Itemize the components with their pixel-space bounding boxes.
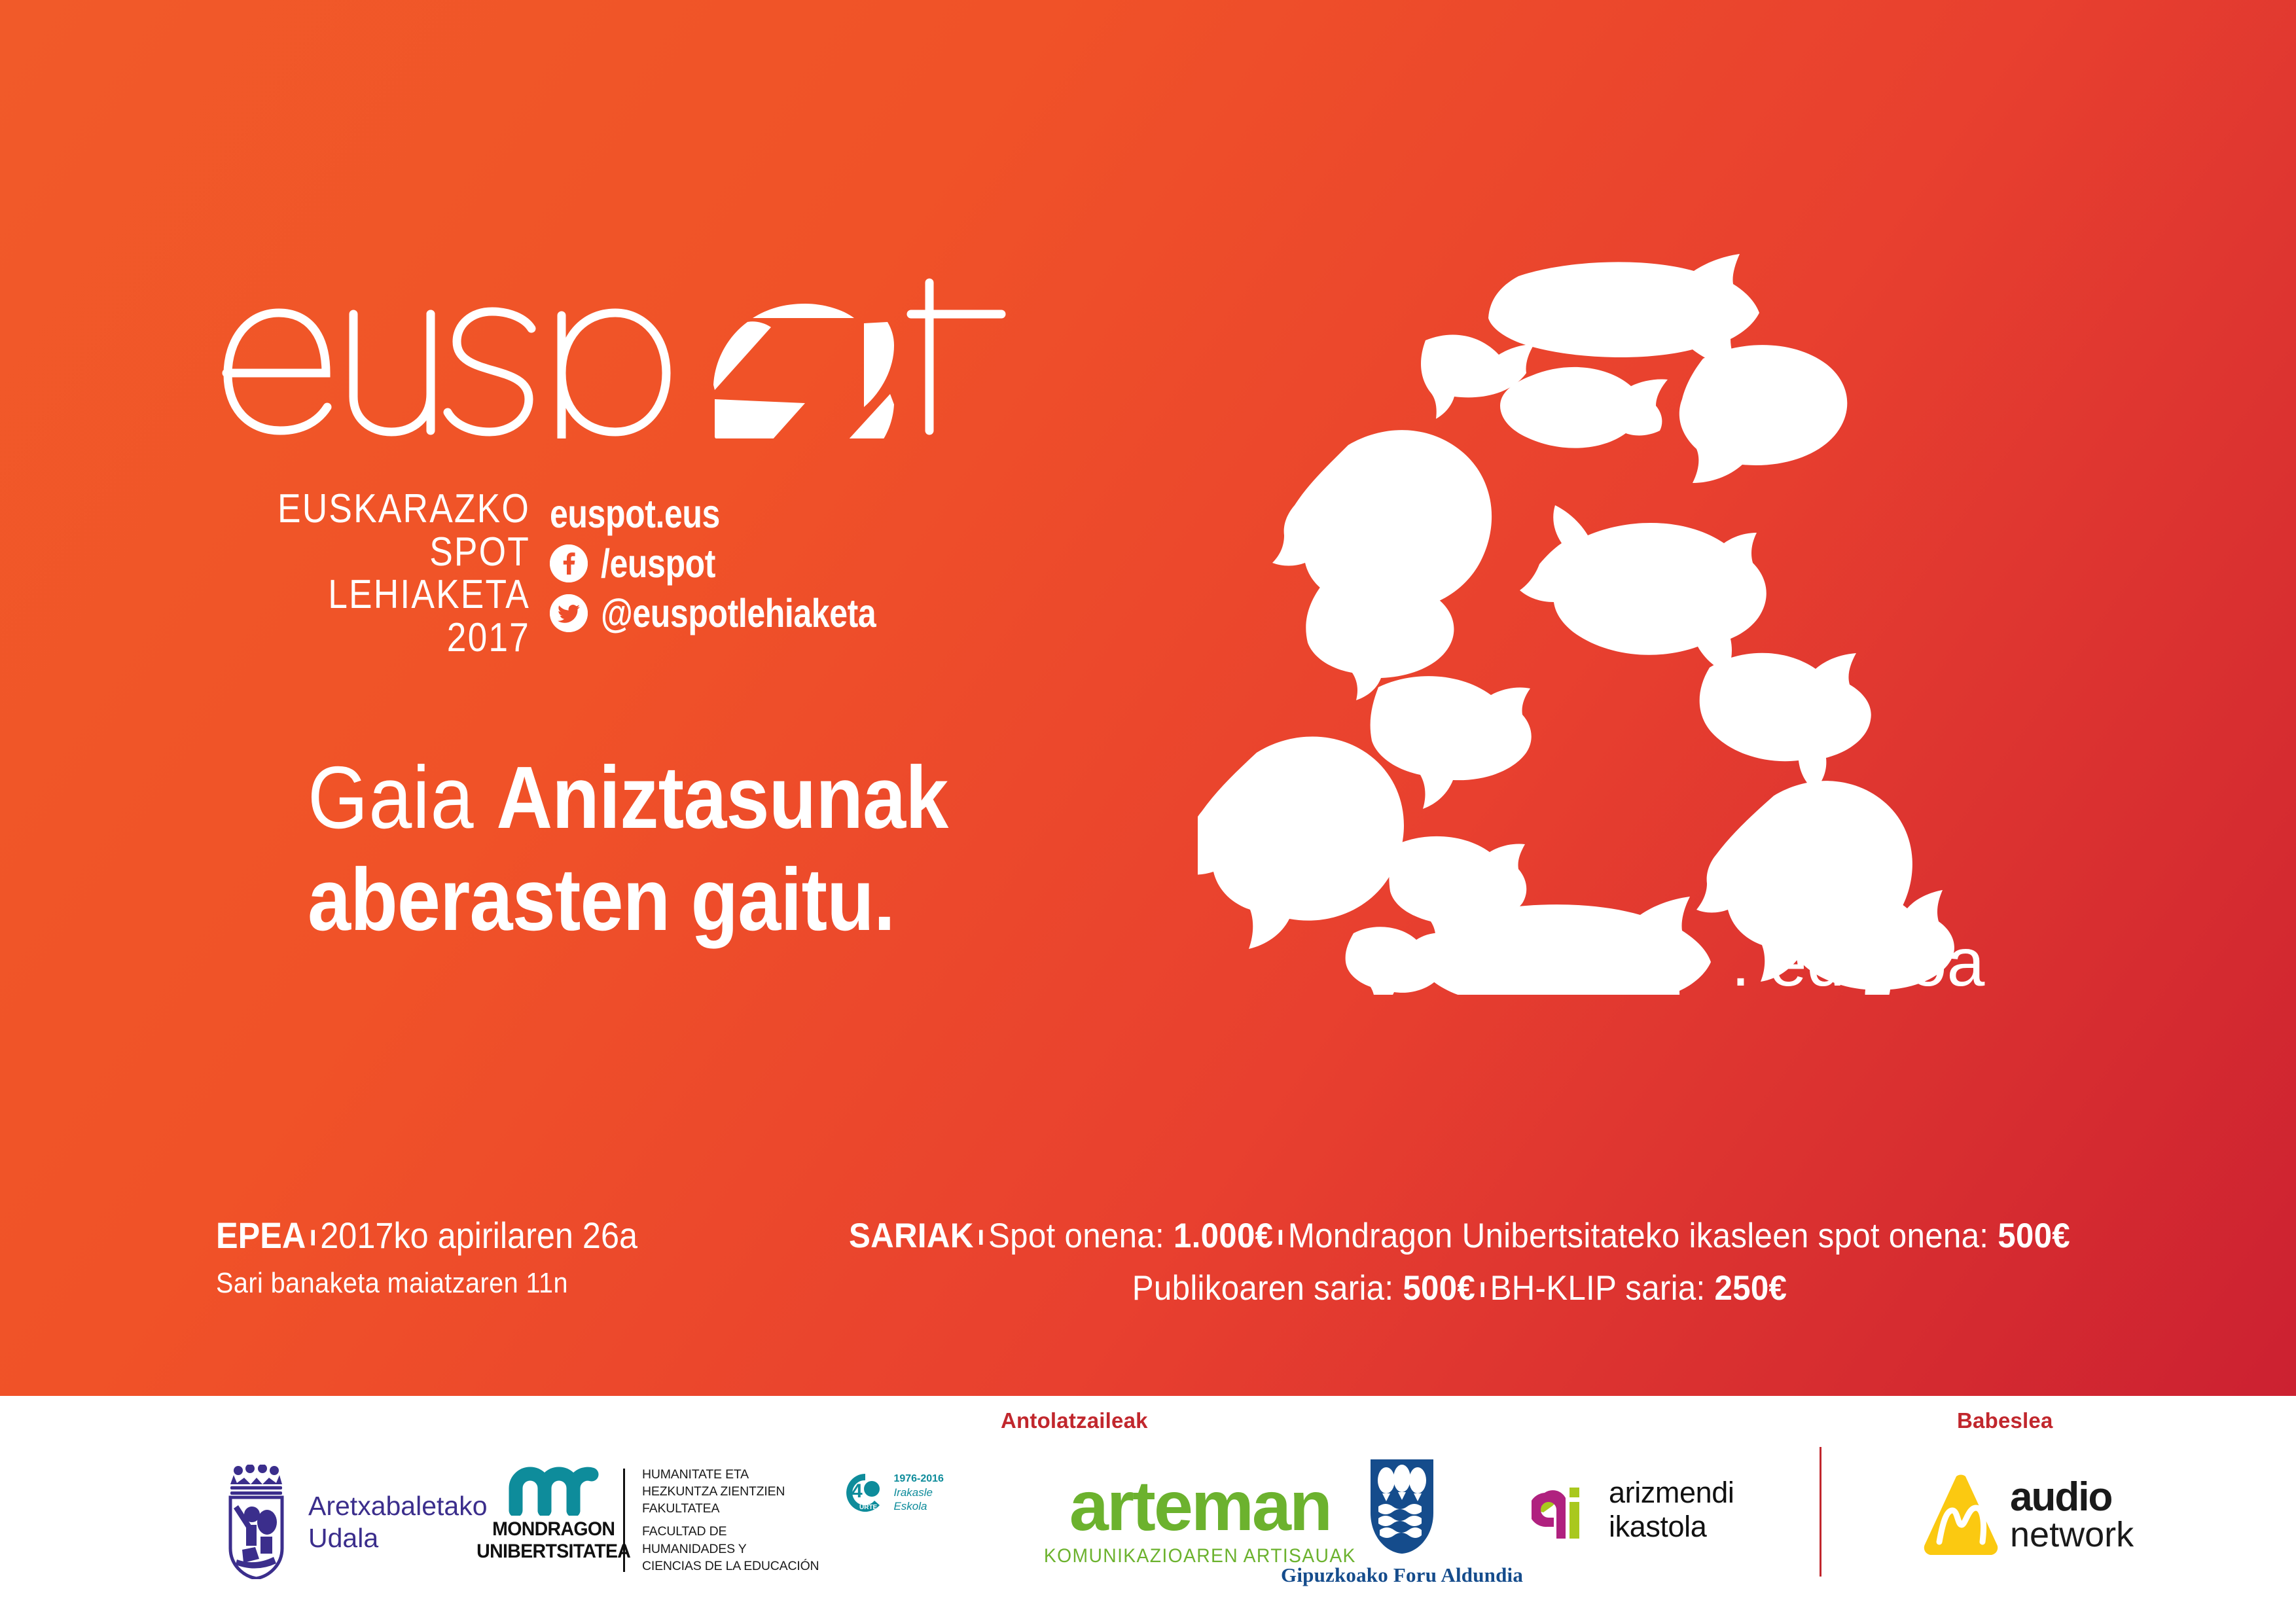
prizes-row-2: Publikoaren saria: 500€ıBH-KLIP saria: 2…	[821, 1266, 2099, 1311]
mondragon-desc-es-2: HUMANIDADES Y	[642, 1541, 819, 1558]
prizes-separator-1: ı	[974, 1220, 988, 1251]
deadline-note: Sari banaketa maiatzaren 11n	[216, 1266, 864, 1301]
prize-4-amount: 250€	[1714, 1269, 1787, 1308]
forty-years-sub-2: Eskola	[893, 1499, 944, 1513]
edition-label: . edizioa	[1731, 924, 1984, 1002]
contact-block: euspot.eus /euspot @euspotlehiaketa	[550, 488, 937, 638]
euspot-wordmark	[216, 275, 1028, 438]
mondragon-desc-eu: HUMANITATE ETA HEZKUNTZA ZIENTZIEN FAKUL…	[642, 1466, 819, 1517]
prize-3-label: Publikoaren saria:	[1132, 1269, 1403, 1308]
deadline-row: EPEAı2017ko apirilaren 26a	[216, 1214, 864, 1257]
aretxabaleta-line-2: Udala	[308, 1522, 488, 1554]
logo-mondragon-unibertsitatea[interactable]: MONDRAGON UNIBERTSITATEA HUMANITATE ETA …	[497, 1466, 944, 1575]
subtitle-line-3: LEHIAKETA	[260, 573, 530, 616]
mondragon-name-line-1: MONDRAGON	[476, 1518, 630, 1541]
organizers-label: Antolatzaileak	[1001, 1408, 1148, 1433]
forty-years-range: 1976-2016	[893, 1472, 944, 1486]
camera-aperture-icon	[695, 300, 894, 438]
mondragon-description: HUMANITATE ETA HEZKUNTZA ZIENTZIEN FAKUL…	[642, 1466, 819, 1575]
arizmendi-text: arizmendi ikastola	[1609, 1476, 1734, 1544]
facebook-label: /euspot	[601, 544, 715, 584]
twitter-icon	[550, 594, 588, 632]
subtitle-block: EUSKARAZKO SPOT LEHIAKETA 2017	[260, 488, 530, 660]
twitter-label: @euspotlehiaketa	[601, 594, 876, 633]
mondragon-desc-eu-1: HUMANITATE ETA	[642, 1466, 819, 1483]
hero-gradient-background: EUSKARAZKO SPOT LEHIAKETA 2017 euspot.eu…	[0, 0, 2296, 1396]
prizes-block: SARIAKıSpot onena: 1.000€ıMondragon Unib…	[772, 1214, 2147, 1311]
facebook-icon	[550, 544, 588, 582]
tagline-prefix: Gaia	[308, 748, 496, 847]
mondragon-desc-es-3: CIENCIAS DE LA EDUCACIÓN	[642, 1558, 819, 1575]
prizes-title: SARIAK	[849, 1217, 974, 1255]
prize-2-amount: 500€	[1998, 1217, 2070, 1255]
header-meta: EUSKARAZKO SPOT LEHIAKETA 2017 euspot.eu…	[216, 488, 1054, 660]
gipuzkoa-name: Gipuzkoako Foru Aldundia	[1281, 1563, 1523, 1587]
poster-canvas: EUSKARAZKO SPOT LEHIAKETA 2017 euspot.eu…	[0, 0, 2296, 1623]
tagline: Gaia Aniztasunak aberasten gaitu.	[308, 753, 1289, 944]
subtitle-line-4: 2017	[260, 616, 530, 660]
arizmendi-line-1: arizmendi	[1609, 1476, 1734, 1510]
mondragon-desc-es: FACULTAD DE HUMANIDADES Y CIENCIAS DE LA…	[642, 1523, 819, 1574]
prize-1-label: Spot onena:	[988, 1217, 1174, 1255]
fish-six-graphic	[1198, 236, 2068, 995]
contact-twitter[interactable]: @euspotlehiaketa	[550, 588, 937, 638]
logo-gipuzkoako-foru-aldundia[interactable]: Gipuzkoako Foru Aldundia	[1281, 1458, 1523, 1587]
contact-website[interactable]: euspot.eus	[550, 489, 937, 539]
aretxabaleta-text: Aretxabaletako Udala	[308, 1490, 488, 1554]
euspot-wordmark-svg	[216, 275, 1028, 438]
prize-2-label: Mondragon Unibertsitateko ikasleen spot …	[1288, 1217, 1998, 1255]
prize-3-amount: 500€	[1403, 1269, 1475, 1308]
subtitle-line-1: EUSKARAZKO	[260, 488, 530, 531]
mondragon-40-badge: 4 URTE 1976-2016 Irakasle Eskola	[842, 1466, 944, 1514]
mondragon-desc-eu-3: FAKULTATEA	[642, 1500, 819, 1517]
website-label: euspot.eus	[550, 494, 720, 534]
logo-audio-network[interactable]: audio network	[1922, 1472, 2134, 1558]
deadline-title: EPEA	[216, 1215, 306, 1256]
prize-1-amount: 1.000€	[1174, 1217, 1273, 1255]
aretxabaleta-crest-icon	[223, 1465, 291, 1579]
contact-facebook[interactable]: /euspot	[550, 539, 937, 588]
svg-text:URTE: URTE	[859, 1504, 878, 1511]
aretxabaleta-line-1: Aretxabaletako	[308, 1490, 488, 1522]
sponsor-label: Babeslea	[1957, 1408, 2053, 1433]
logo-arizmendi-ikastola[interactable]: arizmendi ikastola	[1532, 1476, 1734, 1544]
mondragon-mu-icon	[508, 1466, 600, 1516]
gipuzkoa-shield-icon	[1368, 1458, 1436, 1555]
subtitle-line-2: SPOT	[260, 531, 530, 574]
forty-years-sub-1: Irakasle	[893, 1486, 944, 1499]
audio-network-text: audio network	[2010, 1478, 2134, 1552]
mondragon-name-line-2: UNIBERTSITATEA	[476, 1541, 630, 1563]
mondragon-main: MONDRAGON UNIBERTSITATEA	[497, 1466, 610, 1563]
euspot-logo	[216, 275, 1041, 438]
tagline-line-2: aberasten gaitu.	[308, 855, 1172, 945]
logo-aretxabaletako-udala[interactable]: Aretxabaletako Udala	[223, 1465, 488, 1579]
footer-divider	[1820, 1447, 1821, 1577]
audio-network-line-1: audio	[2010, 1478, 2134, 1517]
deadline-value: 2017ko apirilaren 26a	[320, 1215, 637, 1256]
forty-years-icon: 4 URTE	[842, 1471, 888, 1514]
deadline-separator: ı	[306, 1219, 320, 1252]
svg-text:4: 4	[852, 1480, 863, 1502]
mondragon-name: MONDRAGON UNIBERTSITATEA	[476, 1518, 630, 1563]
mondragon-desc-eu-2: HEZKUNTZA ZIENTZIEN	[642, 1483, 819, 1500]
prize-4-label: BH-KLIP saria:	[1490, 1269, 1714, 1308]
arizmendi-line-2: ikastola	[1609, 1510, 1734, 1544]
tagline-keyword: Aniztasunak	[496, 748, 948, 847]
tagline-line-1: Gaia Aniztasunak	[308, 753, 1172, 843]
audio-network-a-icon	[1922, 1472, 2000, 1558]
arizmendi-ai-icon	[1532, 1478, 1594, 1541]
fish-six-svg	[1198, 236, 2068, 995]
prizes-separator-3: ı	[1475, 1272, 1490, 1303]
mondragon-desc-es-1: FACULTAD DE	[642, 1523, 819, 1540]
audio-network-line-2: network	[2010, 1518, 2134, 1552]
forty-years-text: 1976-2016 Irakasle Eskola	[893, 1472, 944, 1514]
prizes-separator-2: ı	[1273, 1220, 1287, 1251]
prizes-row-1: SARIAKıSpot onena: 1.000€ıMondragon Unib…	[821, 1214, 2099, 1258]
